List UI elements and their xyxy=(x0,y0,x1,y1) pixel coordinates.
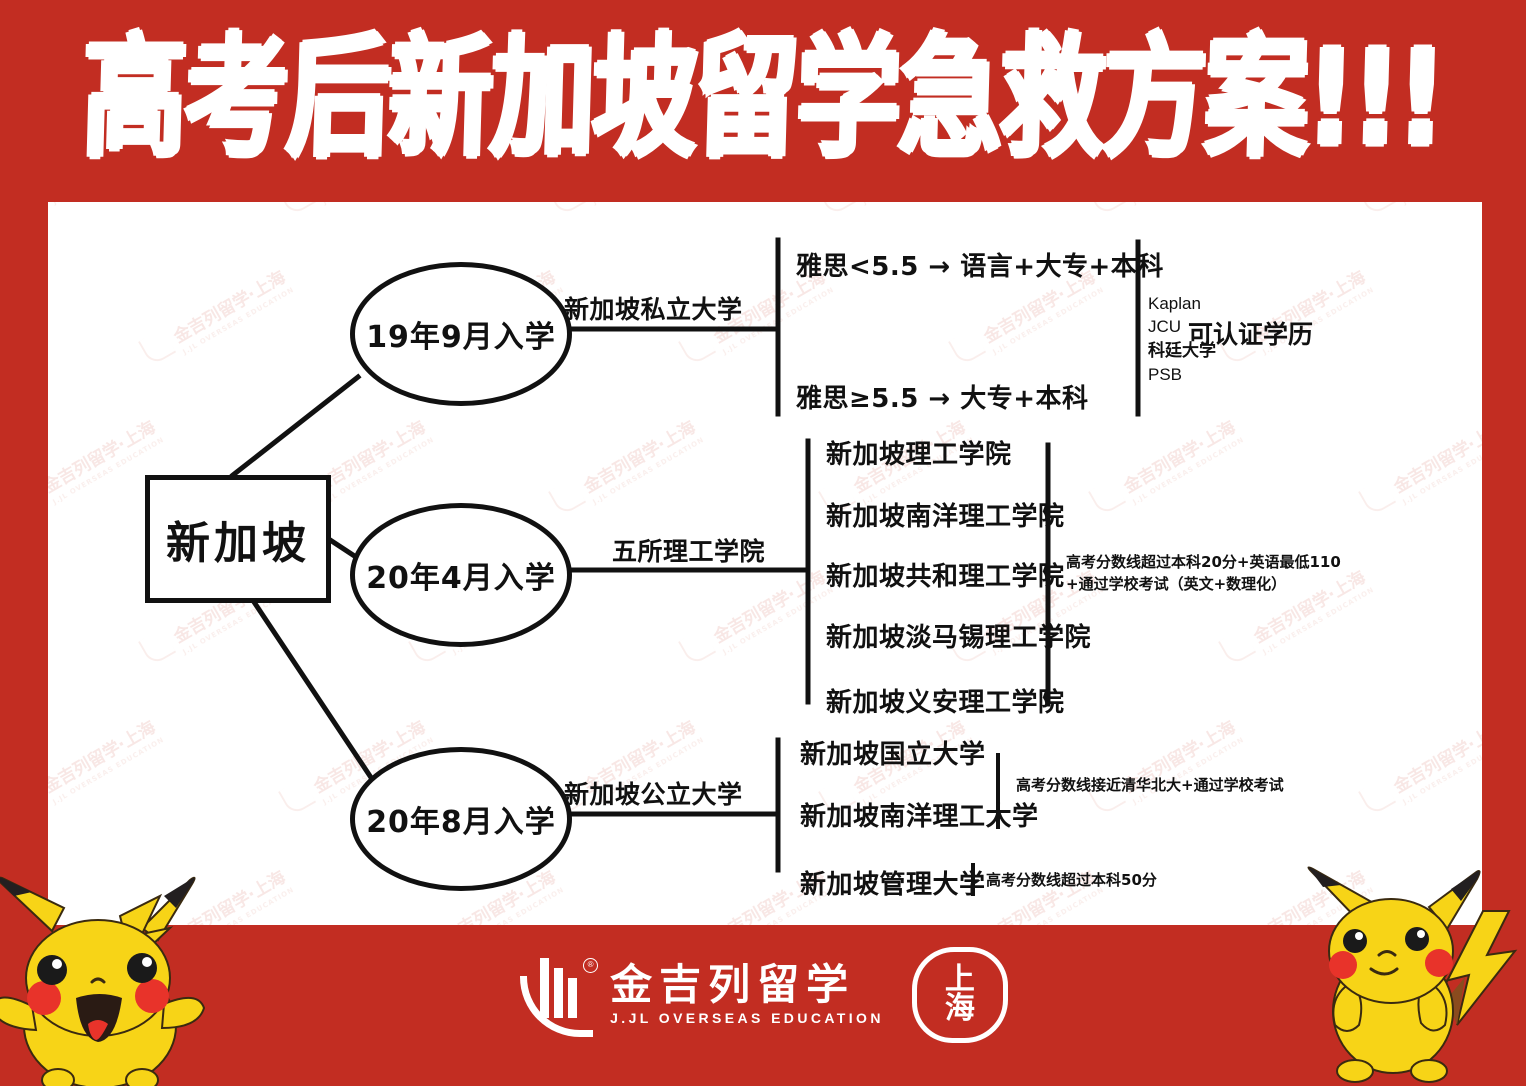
brand-psb: PSB xyxy=(1148,363,1216,386)
node-stage-sep-2019[interactable]: 19年9月入学 xyxy=(350,262,572,406)
leaf-republic-polytechnic: 新加坡共和理工学院 xyxy=(826,556,1065,593)
leaf-nanyang-polytechnic: 新加坡南洋理工学院 xyxy=(826,496,1065,533)
pikachu-standing-icon xyxy=(1297,859,1522,1084)
note-certifiable-degree: 可认证学历 xyxy=(1188,315,1313,351)
leaf-ielts-below: 雅思<5.5 → 语言+大专+本科 xyxy=(796,246,1164,283)
seal-char-hai: 海 xyxy=(945,995,975,1024)
leaf-ngee-ann-polytechnic: 新加坡义安理工学院 xyxy=(826,682,1065,719)
edge-label-public-universities: 新加坡公立大学 xyxy=(564,775,743,811)
page-title: 高考后新加坡留学急救方案!!! xyxy=(0,0,1526,200)
note-public-university-requirements: 高考分数线接近清华北大+通过学校考试 xyxy=(1016,775,1284,797)
leaf-temasek-polytechnic: 新加坡淡马锡理工学院 xyxy=(826,617,1091,654)
edge-label-five-polytechnics: 五所理工学院 xyxy=(612,532,765,568)
note-smu-requirements: 高考分数线超过本科50分 xyxy=(986,870,1157,892)
leaf-singapore-polytechnic: 新加坡理工学院 xyxy=(826,434,1012,471)
node-stage-aug-2020[interactable]: 20年8月入学 xyxy=(350,747,572,891)
shanghai-seal-icon: 上 海 xyxy=(912,947,1008,1043)
brand-kaplan: Kaplan xyxy=(1148,292,1216,315)
pikachu-cheering-icon xyxy=(0,856,222,1086)
diagram-panel: 金吉列留学·上海J.JL OVERSEAS EDUCATION金吉列留学·上海J… xyxy=(48,202,1482,925)
registered-trademark-icon: ® xyxy=(583,958,598,973)
logo-brand-cn: 金吉列留学 xyxy=(610,964,884,1007)
leaf-nus: 新加坡国立大学 xyxy=(800,734,986,771)
logo-brand-en: J.JL OVERSEAS EDUCATION xyxy=(610,1010,884,1026)
edge-label-private-universities: 新加坡私立大学 xyxy=(564,290,743,326)
node-root-singapore[interactable]: 新加坡 xyxy=(145,475,331,603)
leaf-smu: 新加坡管理大学 xyxy=(800,864,986,901)
leaf-ielts-above: 雅思≥5.5 → 大专+本科 xyxy=(796,378,1089,415)
node-stage-apr-2020[interactable]: 20年4月入学 xyxy=(350,503,572,647)
note-polytechnic-requirements: 高考分数线超过本科20分+英语最低110 +通过学校考试（英文+数理化） xyxy=(1066,552,1341,596)
leaf-ntu: 新加坡南洋理工大学 xyxy=(800,796,1039,833)
logo-wordmark: 金吉列留学 J.JL OVERSEAS EDUCATION xyxy=(610,964,884,1026)
jjl-logo-icon: ® xyxy=(518,958,596,1032)
